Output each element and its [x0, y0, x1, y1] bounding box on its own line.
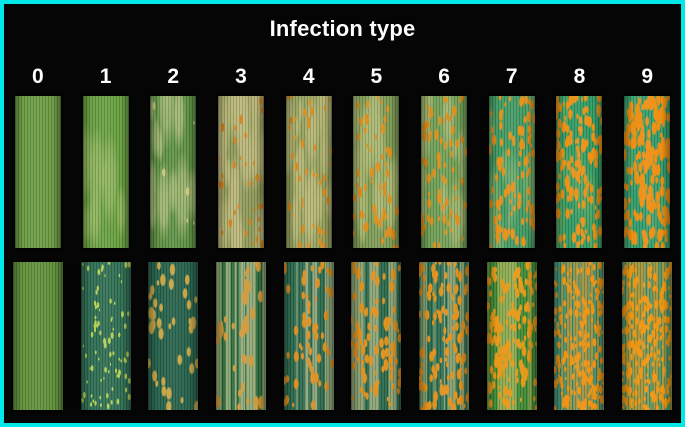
leaf-shading-overlay — [216, 262, 266, 410]
leaf-specimen-type-7 — [487, 262, 537, 410]
leaf-row-top — [4, 96, 681, 248]
figure-title: Infection type — [4, 16, 681, 42]
leaf-cell-bottom-0 — [4, 262, 72, 410]
leaf-shading-overlay — [353, 96, 399, 248]
scale-label-8: 8 — [546, 62, 614, 92]
leaf-cell-top-8 — [546, 96, 614, 248]
leaf-shading-overlay — [218, 96, 264, 248]
leaf-cell-top-5 — [343, 96, 411, 248]
leaf-shading-overlay — [286, 96, 332, 248]
leaf-shading-overlay — [421, 96, 467, 248]
leaf-shading-overlay — [489, 96, 535, 248]
leaf-shading-overlay — [83, 96, 129, 248]
leaf-cell-bottom-4 — [275, 262, 343, 410]
leaf-cell-top-3 — [207, 96, 275, 248]
leaf-cell-bottom-1 — [72, 262, 140, 410]
leaf-shading-overlay — [13, 262, 63, 410]
scale-label-0: 0 — [4, 62, 72, 92]
leaf-shading-overlay — [15, 96, 61, 248]
leaf-specimen-type-6 — [419, 262, 469, 410]
leaf-cell-bottom-7 — [478, 262, 546, 410]
leaf-shading-overlay — [556, 96, 602, 248]
leaf-shading-overlay — [148, 262, 198, 410]
leaf-specimen-type-4 — [284, 262, 334, 410]
leaf-cell-bottom-5 — [343, 262, 411, 410]
leaf-cell-bottom-3 — [207, 262, 275, 410]
leaf-cell-bottom-2 — [139, 262, 207, 410]
scale-label-2: 2 — [139, 62, 207, 92]
leaf-cell-bottom-6 — [410, 262, 478, 410]
leaf-cell-top-7 — [478, 96, 546, 248]
leaf-row-bottom — [4, 262, 681, 410]
scale-label-7: 7 — [478, 62, 546, 92]
scale-label-5: 5 — [343, 62, 411, 92]
leaf-specimen-type-5 — [353, 96, 399, 248]
leaf-specimen-type-1 — [83, 96, 129, 248]
leaf-specimen-type-9 — [622, 262, 672, 410]
leaf-cell-top-2 — [139, 96, 207, 248]
leaf-cell-bottom-9 — [613, 262, 681, 410]
leaf-specimen-type-2 — [150, 96, 196, 248]
leaf-shading-overlay — [554, 262, 604, 410]
scale-label-3: 3 — [207, 62, 275, 92]
scale-label-6: 6 — [410, 62, 478, 92]
leaf-shading-overlay — [81, 262, 131, 410]
leaf-cell-top-9 — [613, 96, 681, 248]
scale-label-4: 4 — [275, 62, 343, 92]
leaf-specimen-type-4 — [286, 96, 332, 248]
infection-type-figure: Infection type 0 1 2 3 4 5 6 7 8 9 — [0, 0, 685, 427]
leaf-specimen-type-1 — [81, 262, 131, 410]
leaf-specimen-type-9 — [624, 96, 670, 248]
leaf-shading-overlay — [622, 262, 672, 410]
leaf-specimen-type-8 — [554, 262, 604, 410]
leaf-specimen-type-3 — [218, 96, 264, 248]
infection-type-scale-labels: 0 1 2 3 4 5 6 7 8 9 — [4, 62, 681, 92]
leaf-shading-overlay — [284, 262, 334, 410]
leaf-specimen-type-5 — [351, 262, 401, 410]
leaf-specimen-type-8 — [556, 96, 602, 248]
scale-label-1: 1 — [72, 62, 140, 92]
leaf-cell-top-6 — [410, 96, 478, 248]
leaf-specimen-type-6 — [421, 96, 467, 248]
leaf-shading-overlay — [351, 262, 401, 410]
leaf-specimen-type-7 — [489, 96, 535, 248]
leaf-cell-top-1 — [72, 96, 140, 248]
leaf-specimen-type-0 — [15, 96, 61, 248]
leaf-cell-bottom-8 — [546, 262, 614, 410]
leaf-specimen-type-0 — [13, 262, 63, 410]
leaf-shading-overlay — [487, 262, 537, 410]
leaf-shading-overlay — [419, 262, 469, 410]
leaf-specimen-type-2 — [148, 262, 198, 410]
leaf-specimen-type-3 — [216, 262, 266, 410]
scale-label-9: 9 — [613, 62, 681, 92]
leaf-shading-overlay — [624, 96, 670, 248]
leaf-shading-overlay — [150, 96, 196, 248]
leaf-cell-top-4 — [275, 96, 343, 248]
leaf-cell-top-0 — [4, 96, 72, 248]
